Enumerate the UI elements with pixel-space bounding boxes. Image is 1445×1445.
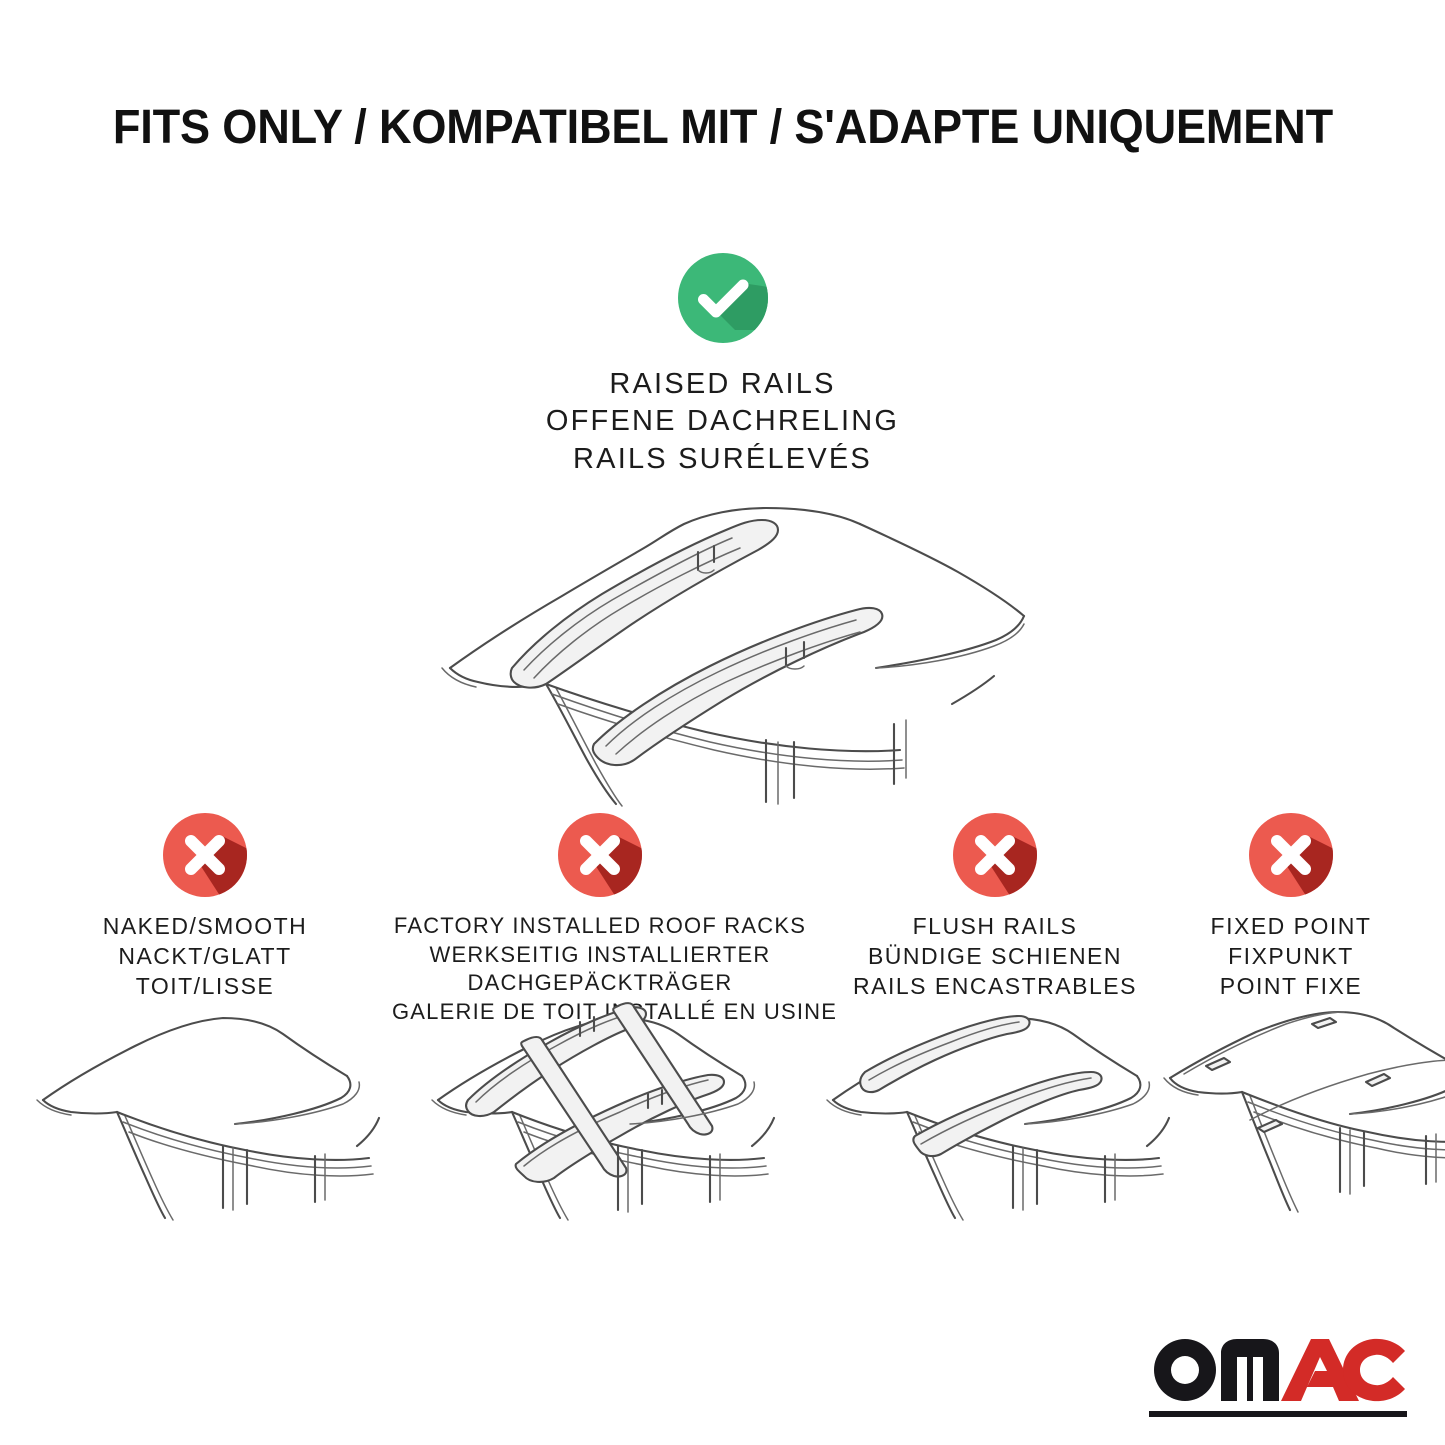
car-roof-factory-racks-illustration: [412, 998, 788, 1238]
car-roof-raised-rails-illustration: [406, 492, 1066, 812]
omac-logo: [1147, 1337, 1409, 1421]
compatible-label-en: RAISED RAILS: [0, 366, 1445, 403]
car-roof-flush-rails-illustration: [807, 1008, 1183, 1238]
red-x-icon: [1248, 812, 1334, 898]
incompatible-section: NAKED/SMOOTH NACKT/GLATT TOIT/LISSE: [0, 812, 1445, 1272]
page-title-bar: FITS ONLY / KOMPATIBEL MIT / S'ADAPTE UN…: [0, 104, 1445, 152]
label-en: NAKED/SMOOTH: [20, 912, 390, 942]
label-en: FIXED POINT: [1168, 912, 1414, 942]
label-en: FLUSH RAILS: [812, 912, 1178, 942]
label-fr: POINT FIXE: [1168, 972, 1414, 1002]
compatible-label-de: OFFENE DACHRELING: [0, 403, 1445, 440]
page-title: FITS ONLY / KOMPATIBEL MIT / S'ADAPTE UN…: [112, 104, 1332, 152]
compatible-section: RAISED RAILS OFFENE DACHRELING RAILS SUR…: [0, 252, 1445, 478]
incompatible-item-naked-smooth: NAKED/SMOOTH NACKT/GLATT TOIT/LISSE: [20, 812, 390, 1002]
incompatible-labels-fixed-point: FIXED POINT FIXPUNKT POINT FIXE: [1168, 912, 1414, 1002]
label-fr: RAILS ENCASTRABLES: [812, 972, 1178, 1002]
red-x-icon: [557, 812, 643, 898]
incompatible-item-flush-rails: FLUSH RAILS BÜNDIGE SCHIENEN RAILS ENCAS…: [812, 812, 1178, 1002]
incompatible-labels-naked-smooth: NAKED/SMOOTH NACKT/GLATT TOIT/LISSE: [20, 912, 390, 1002]
incompatible-item-factory-racks: FACTORY INSTALLED ROOF RACKS WERKSEITIG …: [392, 812, 808, 1026]
green-check-icon: [677, 252, 769, 344]
label-de: NACKT/GLATT: [20, 942, 390, 972]
red-x-icon: [952, 812, 1038, 898]
label-de: BÜNDIGE SCHIENEN: [812, 942, 1178, 972]
label-de: FIXPUNKT: [1168, 942, 1414, 972]
label-fr: TOIT/LISSE: [20, 972, 390, 1002]
logo-letter-m: [1221, 1339, 1279, 1401]
red-x-icon: [162, 812, 248, 898]
compatible-label-fr: RAILS SURÉLEVÉS: [0, 441, 1445, 478]
car-roof-naked-smooth-illustration: [17, 1008, 393, 1238]
label-de-2: DACHGEPÄCKTRÄGER: [392, 969, 808, 998]
logo-underline: [1149, 1411, 1407, 1417]
compatible-labels: RAISED RAILS OFFENE DACHRELING RAILS SUR…: [0, 366, 1445, 478]
car-roof-fixed-point-illustration: [1154, 1008, 1445, 1238]
incompatible-item-fixed-point: FIXED POINT FIXPUNKT POINT FIXE: [1168, 812, 1414, 1002]
label-en: FACTORY INSTALLED ROOF RACKS: [392, 912, 808, 941]
label-de-1: WERKSEITIG INSTALLIERTER: [392, 941, 808, 970]
incompatible-labels-flush-rails: FLUSH RAILS BÜNDIGE SCHIENEN RAILS ENCAS…: [812, 912, 1178, 1002]
